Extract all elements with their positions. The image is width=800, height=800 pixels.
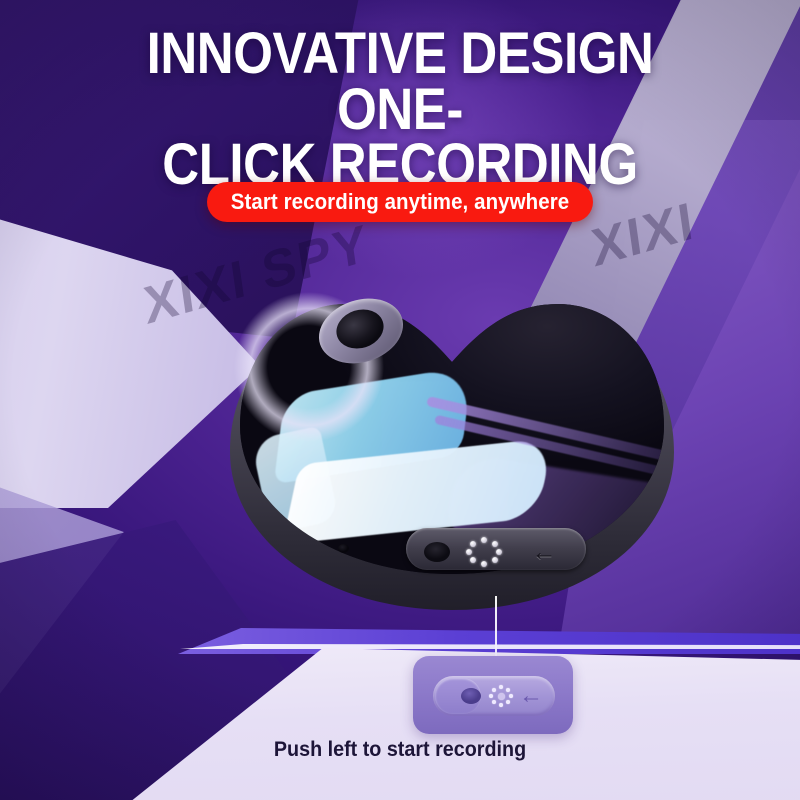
tagline-badge-label: Start recording anytime, anywhere [231,189,569,215]
callout-leader-line [495,596,497,658]
callout-thumb-hole-icon [461,688,481,704]
product-marketing-banner: XIXI SPY XIXI INNOVATIVE DESIGN ONE- CLI… [0,0,800,800]
reflection-streak-1 [426,396,672,462]
device-switch-thumb-hole [424,542,450,562]
headline-line-1: INNOVATIVE DESIGN ONE- [147,21,654,142]
callout-dot-ring-icon [487,684,515,708]
headline: INNOVATIVE DESIGN ONE- CLICK RECORDING [48,26,752,193]
device-switch-dot-ring-icon [462,534,506,570]
tagline-badge: Start recording anytime, anywhere [207,182,593,222]
switch-callout-box: ← [413,656,573,734]
callout-caption: Push left to start recording [24,738,776,762]
microphone-hole-icon [338,544,349,553]
device-switch-arrow-icon: ← [528,540,560,564]
callout-arrow-icon: ← [517,684,545,708]
reflection-streak-2 [434,415,674,479]
heart-recorder-device: ← [226,248,678,618]
